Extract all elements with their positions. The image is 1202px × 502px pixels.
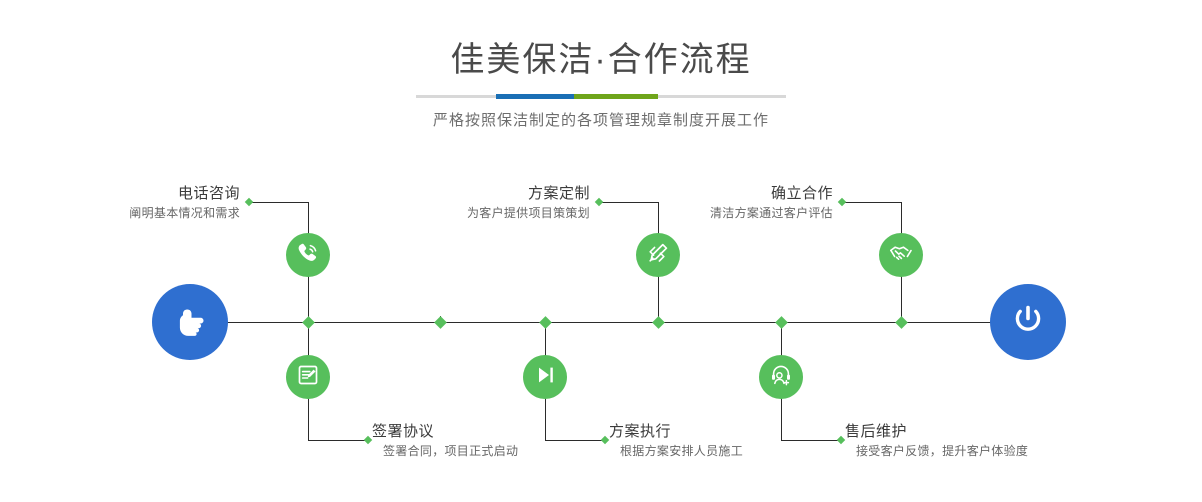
power-icon bbox=[1007, 299, 1049, 346]
axis-marker-4 bbox=[539, 316, 552, 329]
connector-horizontal-3 bbox=[599, 202, 659, 203]
label-marker-3 bbox=[595, 198, 603, 206]
connector-horizontal-6 bbox=[781, 440, 841, 441]
axis-marker-6 bbox=[895, 316, 908, 329]
step-desc: 阐明基本情况和需求 bbox=[40, 204, 240, 223]
cooperation-process-infographic: 佳美保洁·合作流程 严格按照保洁制定的各项管理规章制度开展工作 bbox=[0, 0, 1202, 502]
step-title: 售后维护 bbox=[845, 422, 1165, 442]
divider-green-segment bbox=[574, 94, 658, 99]
step-desc: 清洁方案通过客户评估 bbox=[625, 204, 833, 223]
step-node-plan-customization bbox=[636, 233, 680, 277]
header: 佳美保洁·合作流程 严格按照保洁制定的各项管理规章制度开展工作 bbox=[0, 0, 1202, 130]
step-node-phone-consultation bbox=[286, 233, 330, 277]
axis-marker-7 bbox=[775, 316, 788, 329]
step-desc: 为客户提供项目策策划 bbox=[390, 204, 590, 223]
pointing-hand-icon bbox=[170, 300, 210, 345]
axis-marker-3 bbox=[434, 316, 447, 329]
step-title: 签署协议 bbox=[372, 422, 632, 442]
connector-horizontal-2 bbox=[308, 440, 368, 441]
step-label-sign-agreement: 签署协议 签署合同，项目正式启动 bbox=[372, 422, 632, 461]
step-node-after-sales-maintenance bbox=[759, 355, 803, 399]
axis-marker-5 bbox=[652, 316, 665, 329]
step-node-sign-agreement bbox=[286, 355, 330, 399]
page-title: 佳美保洁·合作流程 bbox=[0, 0, 1202, 82]
step-node-plan-execution bbox=[523, 355, 567, 399]
step-label-after-sales-maintenance: 售后维护 接受客户反馈，提升客户体验度 bbox=[845, 422, 1165, 461]
step-label-establish-cooperation: 确立合作 清洁方案通过客户评估 bbox=[625, 184, 833, 223]
step-title: 方案定制 bbox=[390, 184, 590, 204]
step-desc: 接受客户反馈，提升客户体验度 bbox=[845, 442, 1165, 461]
connector-horizontal-4 bbox=[545, 440, 605, 441]
connector-horizontal-5 bbox=[842, 202, 902, 203]
page-subtitle: 严格按照保洁制定的各项管理规章制度开展工作 bbox=[0, 98, 1202, 130]
divider-blue-segment bbox=[496, 94, 574, 99]
step-label-phone-consultation: 电话咨询 阐明基本情况和需求 bbox=[40, 184, 240, 223]
label-marker-5 bbox=[838, 198, 846, 206]
step-desc: 签署合同，项目正式启动 bbox=[372, 442, 632, 461]
connector-horizontal-1 bbox=[249, 202, 309, 203]
title-divider bbox=[416, 95, 786, 98]
flow-start-node bbox=[152, 284, 228, 360]
step-title: 确立合作 bbox=[625, 184, 833, 204]
headset-support-icon bbox=[768, 362, 794, 393]
step-title: 电话咨询 bbox=[40, 184, 240, 204]
step-label-plan-customization: 方案定制 为客户提供项目策策划 bbox=[390, 184, 590, 223]
label-marker-1 bbox=[245, 198, 253, 206]
pencil-ruler-icon bbox=[645, 240, 671, 271]
flow-end-node bbox=[990, 284, 1066, 360]
phone-ring-icon bbox=[295, 240, 321, 271]
handshake-icon bbox=[888, 240, 914, 271]
process-flow: 电话咨询 阐明基本情况和需求 签署协议 签署合同，项目正式启动 bbox=[0, 150, 1202, 502]
axis-marker-1 bbox=[302, 316, 315, 329]
play-skip-icon bbox=[532, 362, 558, 393]
document-edit-icon bbox=[295, 362, 321, 393]
label-marker-2 bbox=[364, 436, 372, 444]
step-node-establish-cooperation bbox=[879, 233, 923, 277]
